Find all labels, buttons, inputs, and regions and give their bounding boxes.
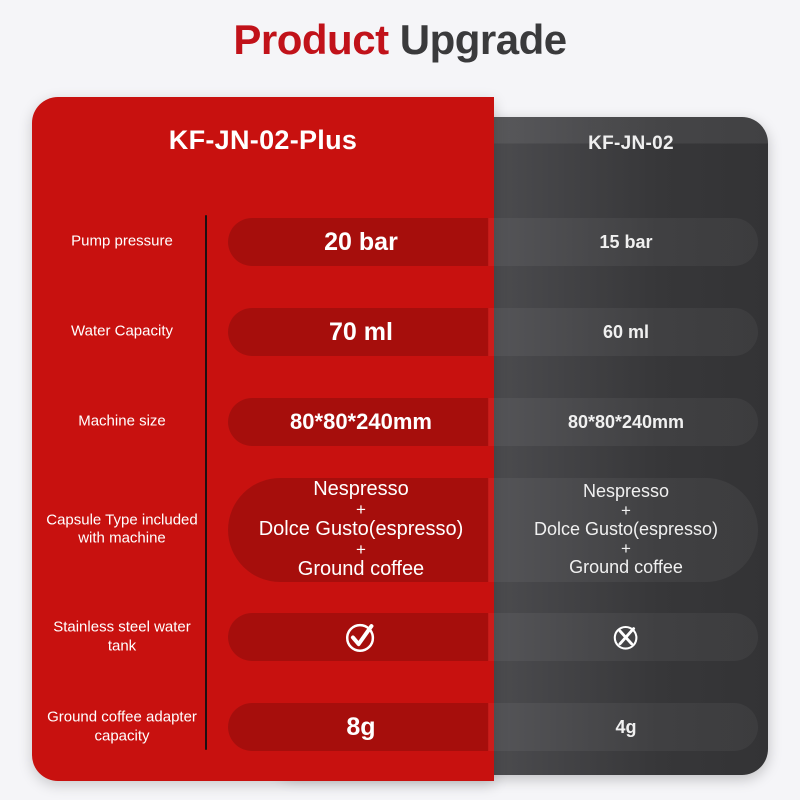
spec-row-capsule-type: Capsule Type included with machine Nespr…: [32, 467, 768, 592]
check-circle-icon: check-circle-icon: [228, 618, 494, 656]
page-title-highlight: Product: [233, 16, 388, 63]
spec-row-machine-size: Machine size 80*80*240mm 80*80*240mm: [32, 377, 768, 467]
spec-value-old-machine-size: 80*80*240mm: [494, 412, 758, 433]
capsule-line: Dolce Gusto(espresso): [228, 518, 494, 541]
spec-value-old-pump-pressure: 15 bar: [494, 232, 758, 253]
spec-value-new-water-capacity: 70 ml: [228, 318, 494, 347]
spec-label-ground-coffee-adapter-capacity: Ground coffee adapter capacity: [42, 708, 202, 746]
spec-label-line: Machine: [78, 413, 135, 430]
spec-pill-pump-pressure: 20 bar 15 bar: [228, 218, 758, 266]
capsule-plus: +: [494, 502, 758, 519]
spec-pill-capsule-type: Nespresso + Dolce Gusto(espresso) + Grou…: [228, 478, 758, 582]
spec-label-line: Pump: [71, 233, 110, 250]
spec-pill-ground-coffee-adapter-capacity: 8g 4g: [228, 703, 758, 751]
capsule-plus: +: [228, 541, 494, 558]
header-new-product: KF-JN-02-Plus: [32, 125, 494, 156]
spec-label-line: pressure: [115, 233, 173, 250]
capsule-plus: +: [494, 540, 758, 557]
spec-row-ground-coffee-adapter-capacity: Ground coffee adapter capacity 8g 4g: [32, 682, 768, 772]
spec-label-stainless-steel-water-tank: Stainless steel water tank: [42, 618, 202, 656]
spec-value-new-capsule-type: Nespresso + Dolce Gusto(espresso) + Grou…: [228, 478, 494, 581]
capsule-line: Nespresso: [494, 481, 758, 502]
header-old-product: KF-JN-02: [494, 133, 768, 155]
capsule-line: Nespresso: [228, 478, 494, 501]
page-title-rest: Upgrade: [389, 16, 567, 63]
spec-label-line: Stainless steel: [53, 618, 150, 635]
capsule-line: Ground coffee: [228, 558, 494, 581]
spec-value-old-water-capacity: 60 ml: [494, 322, 758, 343]
spec-rows: Pump pressure 20 bar 15 bar Water Capaci…: [32, 197, 768, 772]
spec-label-capsule-type: Capsule Type included with machine: [42, 511, 202, 549]
spec-label-line: Ground coffee: [47, 708, 142, 725]
spec-pill-stainless-steel-water-tank: check-circle-icon cross-circle-icon: [228, 613, 758, 661]
spec-label-machine-size: Machine size: [42, 413, 202, 432]
spec-label-line: size: [139, 413, 166, 430]
spec-label-line: Water: [71, 323, 110, 340]
spec-label-line: Capsule Type: [46, 511, 137, 528]
spec-pill-machine-size: 80*80*240mm 80*80*240mm: [228, 398, 758, 446]
spec-label-line: Capacity: [115, 323, 173, 340]
spec-value-new-pump-pressure: 20 bar: [228, 228, 494, 257]
page-title: Product Upgrade: [0, 16, 800, 64]
spec-label-water-capacity: Water Capacity: [42, 323, 202, 342]
spec-row-water-capacity: Water Capacity 70 ml 60 ml: [32, 287, 768, 377]
spec-value-old-capsule-type: Nespresso + Dolce Gusto(espresso) + Grou…: [494, 481, 758, 577]
capsule-plus: +: [228, 501, 494, 518]
spec-label-pump-pressure: Pump pressure: [42, 233, 202, 252]
spec-value-new-machine-size: 80*80*240mm: [228, 409, 494, 434]
spec-row-stainless-steel-water-tank: Stainless steel water tank check-circle-…: [32, 592, 768, 682]
capsule-line: Ground coffee: [494, 557, 758, 578]
cross-circle-icon: cross-circle-icon: [494, 621, 758, 653]
spec-value-old-ground-coffee-adapter-capacity: 4g: [494, 717, 758, 738]
comparison-header: KF-JN-02-Plus KF-JN-02: [32, 97, 768, 197]
spec-row-pump-pressure: Pump pressure 20 bar 15 bar: [32, 197, 768, 287]
spec-pill-water-capacity: 70 ml 60 ml: [228, 308, 758, 356]
capsule-line: Dolce Gusto(espresso): [494, 519, 758, 540]
spec-label-line: machine: [109, 530, 166, 547]
spec-value-new-ground-coffee-adapter-capacity: 8g: [228, 713, 494, 742]
comparison-board: KF-JN-02-Plus KF-JN-02 Pump pressure 20 …: [32, 97, 768, 781]
column-divider: [205, 215, 207, 750]
